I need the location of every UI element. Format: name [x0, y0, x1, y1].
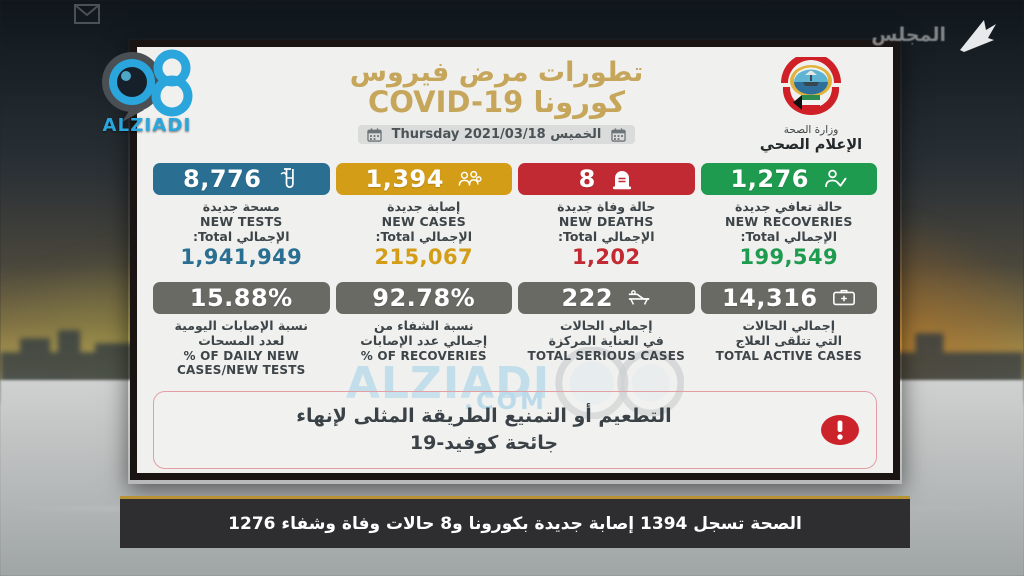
stat-label-en-2: CASES/NEW TESTS [153, 363, 330, 377]
alziadi-logo-wordmark: ALZIADI [92, 115, 202, 136]
stat-total-value: 199,549 [701, 245, 878, 270]
vaccination-alert-banner: التطعيم أو التمنيع الطريقة المثلى لإنهاء… [153, 391, 877, 469]
channel-logo: المجلس [871, 14, 1002, 56]
stat-total-value: 215,067 [336, 245, 513, 270]
stat-label-en-1: % OF DAILY NEW [153, 349, 330, 363]
stat-pill: 15.88% [153, 282, 330, 314]
ministry-name: وزارة الصحة [745, 124, 877, 136]
stat-label-ar: حالة تعافي جديدة [701, 200, 878, 215]
stat-pill: 1,276 [701, 163, 878, 195]
news-ticker: الصحة تسجل 1394 إصابة جديدة بكورونا و8 ح… [120, 496, 910, 548]
stat-pill: 222 [518, 282, 695, 314]
stat-value: 1,276 [731, 165, 809, 193]
page-title-line1: تطورات مرض فيروس [248, 59, 745, 87]
stat-total-label: الإجمالي Total: [518, 230, 695, 245]
stat-card-total-serious-cases: 222 إجمالي الحالات في العناية المركزة TO… [518, 282, 695, 377]
alert-message-line2: جائحة كوفيد-19 [162, 430, 806, 457]
stat-label-en-1: % OF RECOVERIES [336, 349, 513, 363]
report-date: الخميس Thursday 2021/03/18 [392, 127, 602, 142]
calendar-icon [367, 128, 382, 142]
stat-card-daily-positivity-rate: 15.88% نسبة الإصابات اليومية لعدد المسحا… [153, 282, 330, 377]
stat-label-ar-1: نسبة الشفاء من [336, 319, 513, 334]
alert-message: التطعيم أو التمنيع الطريقة المثلى لإنهاء… [162, 403, 806, 457]
stat-label-en-1: TOTAL ACTIVE CASES [701, 349, 878, 363]
page-title-line2: كورونا COVID-19 [248, 88, 745, 118]
stat-label-ar-1: إجمالي الحالات [518, 319, 695, 334]
stat-label-ar-1: إجمالي الحالات [701, 319, 878, 334]
stat-card-new-deaths: 8 حالة وفاة جديدة NEW DEATHS الإجمالي To… [518, 163, 695, 270]
falcon-arrow-icon [950, 14, 1002, 56]
date-bar: الخميس Thursday 2021/03/18 [358, 125, 636, 144]
exclamation-circle-icon [818, 413, 862, 447]
stat-label-en: NEW DEATHS [518, 215, 695, 230]
stats-row-secondary: 15.88% نسبة الإصابات اليومية لعدد المسحا… [153, 282, 877, 377]
stat-labels: حالة وفاة جديدة NEW DEATHS الإجمالي Tota… [518, 200, 695, 270]
hospital-bag-icon [832, 286, 856, 310]
stat-total-value: 1,941,949 [153, 245, 330, 270]
stat-total-label: الإجمالي Total: [336, 230, 513, 245]
stat-labels: حالة تعافي جديدة NEW RECOVERIES الإجمالي… [701, 200, 878, 270]
stat-label-ar-2: لعدد المسحات [153, 334, 330, 349]
stat-label-ar: إصابة جديدة [336, 200, 513, 215]
channel-logo-text: المجلس [871, 24, 946, 46]
card-header: تطورات مرض فيروس كورونا COVID-19 [153, 55, 877, 153]
stat-value: 14,316 [722, 284, 818, 312]
broadcast-frame: المجلس ALZIADI ALZIADI [0, 0, 1024, 576]
news-ticker-text: الصحة تسجل 1394 إصابة جديدة بكورونا و8 ح… [228, 514, 802, 534]
stat-card-new-cases: 1,394 إصابة جديدة NEW CASES الإجمالي Tot… [336, 163, 513, 270]
stat-total-label: الإجمالي Total: [153, 230, 330, 245]
stat-pill: 14,316 [701, 282, 878, 314]
ministry-of-health-block: وزارة الصحة الإعلام الصحي [745, 55, 877, 153]
stat-value: 222 [561, 284, 613, 312]
stat-value: 92.78% [372, 284, 475, 312]
alert-message-line1: التطعيم أو التمنيع الطريقة المثلى لإنهاء [162, 403, 806, 430]
stat-label-ar-2: إجمالي عدد الإصابات [336, 334, 513, 349]
stat-label-ar-2: التي تتلقى العلاج [701, 334, 878, 349]
stat-labels: إصابة جديدة NEW CASES الإجمالي Total: 21… [336, 200, 513, 270]
test-tube-icon [275, 167, 299, 191]
stat-label-ar: حالة وفاة جديدة [518, 200, 695, 215]
stat-card-total-active-cases: 14,316 إجمالي الحالات التي تتلقى العلاج … [701, 282, 878, 377]
health-media-label: الإعلام الصحي [745, 137, 877, 153]
stat-label-en: NEW RECOVERIES [701, 215, 878, 230]
covid-report-card: ALZIADI .COM تطورات مرض فيروس كورونا COV… [130, 40, 900, 480]
tombstone-icon [610, 167, 634, 191]
stat-card-recovery-rate: 92.78% نسبة الشفاء من إجمالي عدد الإصابا… [336, 282, 513, 377]
stat-label-en-1: TOTAL SERIOUS CASES [518, 349, 695, 363]
stat-value: 8 [579, 165, 596, 193]
stat-label-en: NEW TESTS [153, 215, 330, 230]
q8-camera-lens-icon [92, 48, 202, 122]
mail-icon [74, 4, 100, 24]
stat-label-en: NEW CASES [336, 215, 513, 230]
stat-pill: 1,394 [336, 163, 513, 195]
stat-total-value: 1,202 [518, 245, 695, 270]
calendar-icon [611, 128, 626, 142]
stat-pill: 8,776 [153, 163, 330, 195]
stat-labels: إجمالي الحالات التي تتلقى العلاج TOTAL A… [701, 319, 878, 363]
alziadi-logo: ALZIADI [92, 48, 202, 136]
stat-card-new-tests: 8,776 مسحة جديدة NEW TESTS الإجمالي Tota… [153, 163, 330, 270]
stat-labels: نسبة الشفاء من إجمالي عدد الإصابات % OF … [336, 319, 513, 363]
stat-label-ar: مسحة جديدة [153, 200, 330, 215]
stat-label-ar-2: في العناية المركزة [518, 334, 695, 349]
person-check-icon [823, 167, 847, 191]
stat-card-new-recoveries: 1,276 حالة تعافي جديدة NEW RECOVERIES ال… [701, 163, 878, 270]
stat-total-label: الإجمالي Total: [701, 230, 878, 245]
stats-row-primary: 8,776 مسحة جديدة NEW TESTS الإجمالي Tota… [153, 163, 877, 270]
stat-pill: 8 [518, 163, 695, 195]
icu-bed-icon [627, 286, 651, 310]
stat-value: 1,394 [366, 165, 444, 193]
people-group-icon [458, 167, 482, 191]
kuwait-moh-emblem [775, 57, 847, 119]
stat-label-ar-1: نسبة الإصابات اليومية [153, 319, 330, 334]
stat-labels: مسحة جديدة NEW TESTS الإجمالي Total: 1,9… [153, 200, 330, 270]
stat-labels: إجمالي الحالات في العناية المركزة TOTAL … [518, 319, 695, 363]
stat-value: 15.88% [190, 284, 293, 312]
stat-value: 8,776 [183, 165, 261, 193]
title-block: تطورات مرض فيروس كورونا COVID-19 [248, 55, 745, 146]
stat-labels: نسبة الإصابات اليومية لعدد المسحات % OF … [153, 319, 330, 377]
stat-pill: 92.78% [336, 282, 513, 314]
